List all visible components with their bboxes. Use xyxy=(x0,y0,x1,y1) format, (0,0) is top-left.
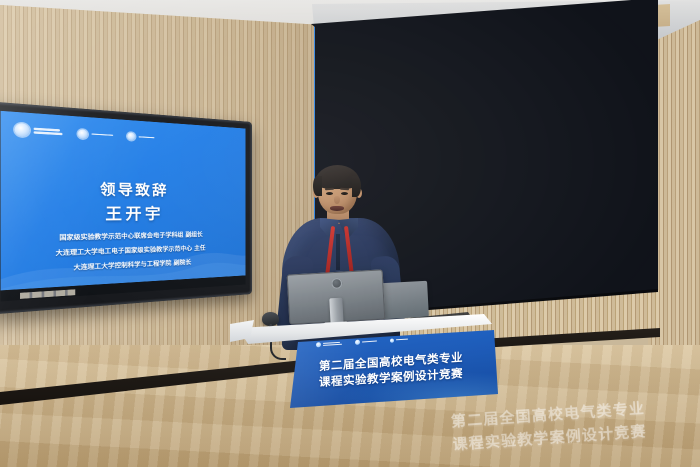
left-wall-monitor[interactable]: 领导致辞 王开宇 国家级实验教学示范中心联席会电子学科组 副组长 大连理工大学电… xyxy=(0,101,252,314)
side-slide-logos xyxy=(15,123,155,144)
secondary-display[interactable] xyxy=(381,281,429,319)
presenter-hair-side xyxy=(352,176,361,197)
university-logo-icon xyxy=(127,132,154,141)
logo-emblem-icon xyxy=(15,123,30,137)
logo-wordmark xyxy=(396,338,408,340)
logo-wordmark xyxy=(323,341,342,346)
presenter-mouth xyxy=(330,206,344,211)
cses-logo-icon xyxy=(78,129,113,140)
logo-emblem-icon xyxy=(390,338,394,342)
dell-logo-icon xyxy=(331,278,343,290)
logo-emblem-icon xyxy=(127,132,135,140)
logo-wordmark xyxy=(34,128,63,135)
logo-emblem-icon xyxy=(355,340,360,345)
competition-logo-icon xyxy=(316,341,342,348)
monitor-screen: 领导致辞 王开宇 国家级实验教学示范中心联席会电子学科组 副组长 大连理工大学电… xyxy=(1,111,246,302)
presenter-eye xyxy=(341,192,348,195)
presenter-nose xyxy=(334,196,340,204)
logo-wordmark xyxy=(362,340,377,342)
presenter-hair-side xyxy=(313,176,322,196)
photo-scene: 领导致辞 王开宇 国家级实验教学示范中心联席会电子学科组 副组长 大连理工大学电… xyxy=(0,0,700,467)
lectern-logo-row xyxy=(316,337,408,348)
side-slide-name: 王开宇 xyxy=(1,202,246,227)
competition-logo-icon xyxy=(15,123,63,139)
lectern-banner: 第二届全国高校电气类专业 课程实验教学案例设计竞赛 xyxy=(290,317,498,408)
logo-emblem-icon xyxy=(78,129,88,139)
logo-wordmark xyxy=(91,133,113,136)
presenter-shirt-placket xyxy=(336,234,340,270)
side-slide-title: 领导致辞 xyxy=(1,175,246,200)
logo-wordmark xyxy=(139,136,155,139)
university-logo-icon xyxy=(390,337,408,342)
cses-logo-icon xyxy=(355,339,377,345)
presenter-eye xyxy=(326,192,333,195)
logo-emblem-icon xyxy=(316,342,321,347)
